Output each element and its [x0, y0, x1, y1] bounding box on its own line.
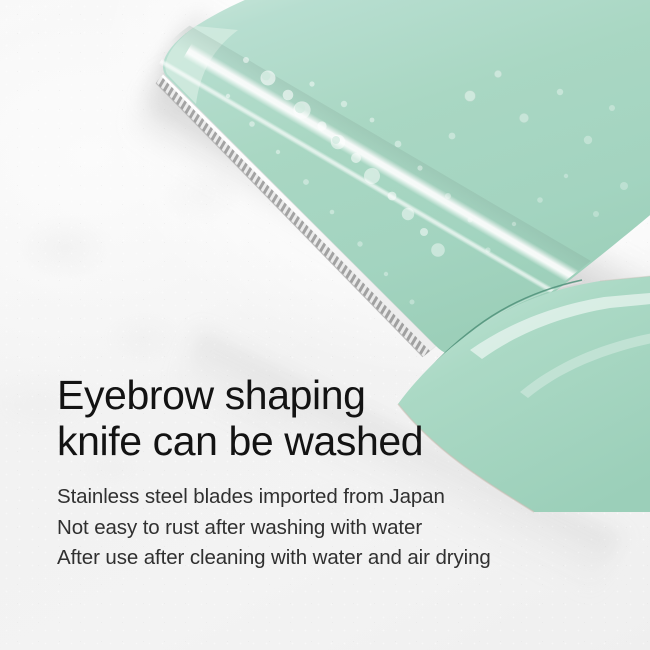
feature-item-3: After use after cleaning with water and …	[57, 543, 617, 574]
marketing-copy: Eyebrow shaping knife can be washed Stai…	[57, 372, 617, 574]
product-poster: Eyebrow shaping knife can be washed Stai…	[0, 0, 650, 650]
feature-list: Stainless steel blades imported from Jap…	[57, 482, 617, 574]
feature-item-1: Stainless steel blades imported from Jap…	[57, 482, 617, 513]
headline: Eyebrow shaping knife can be washed	[57, 372, 617, 464]
feature-item-2: Not easy to rust after washing with wate…	[57, 513, 617, 544]
